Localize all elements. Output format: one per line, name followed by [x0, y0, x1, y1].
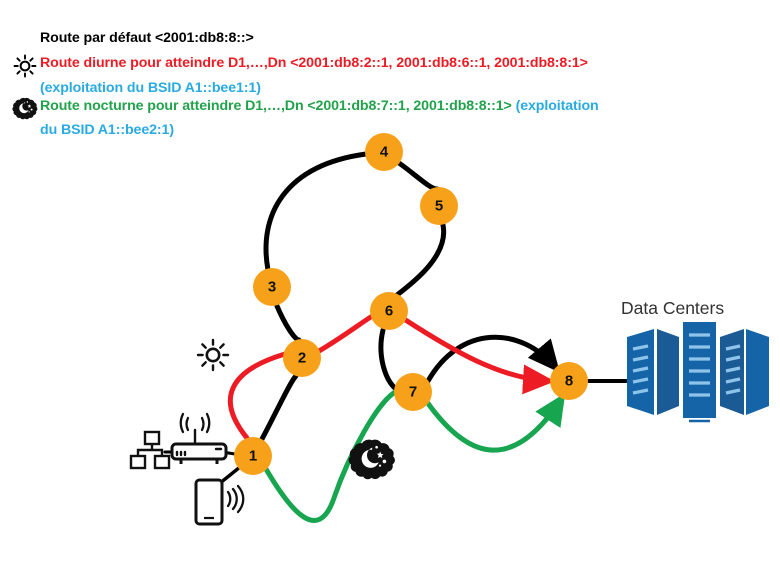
network-diagram — [0, 0, 780, 585]
link-2-3 — [277, 306, 299, 340]
data-center-icon — [627, 322, 769, 421]
node-6[interactable] — [370, 292, 408, 330]
node-7[interactable] — [394, 373, 432, 411]
sun-icon — [198, 340, 228, 370]
node-1[interactable] — [234, 437, 272, 475]
wifi-router-icon — [172, 414, 226, 464]
day-route-1-2 — [230, 354, 285, 438]
link-6-7 — [381, 330, 396, 389]
node-8[interactable] — [550, 362, 588, 400]
network-nodes — [234, 133, 588, 475]
link-5-6 — [397, 225, 444, 295]
moon-icon — [349, 440, 395, 480]
smartphone-icon — [196, 480, 243, 524]
node-4[interactable] — [365, 133, 403, 171]
node-2[interactable] — [283, 339, 321, 377]
lan-tree-icon — [131, 432, 169, 468]
data-centers-label: Data Centers — [621, 298, 724, 319]
day-route-path — [230, 315, 549, 438]
node-3[interactable] — [253, 268, 291, 306]
night-route-7-8 — [427, 398, 562, 450]
link-4-5 — [399, 163, 437, 189]
day-route-2-6 — [319, 315, 374, 351]
link-1-2 — [262, 376, 296, 439]
day-route-6-8 — [404, 319, 549, 381]
link-3-4 — [266, 154, 366, 270]
node-5[interactable] — [420, 187, 458, 225]
